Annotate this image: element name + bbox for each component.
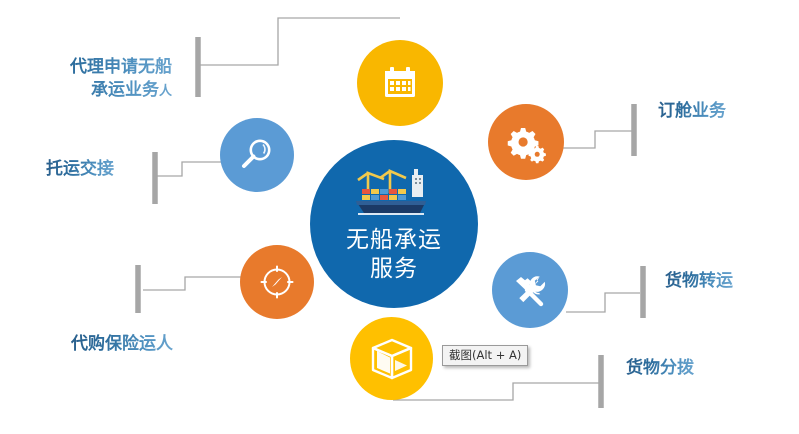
spoke-icon-cargo-transfer[interactable] (492, 252, 568, 328)
spoke-icon-agent-application[interactable] (357, 40, 443, 126)
hub-title-line1: 无船承运 (346, 226, 442, 255)
spoke-icon-booking-business[interactable] (488, 104, 564, 180)
spoke-icon-consign-handover[interactable] (220, 118, 294, 192)
gears-icon (503, 119, 549, 165)
hub-circle[interactable]: 无船承运 服务 (310, 140, 478, 308)
label-booking-business: 订舱业务 (658, 100, 726, 123)
screenshot-tooltip-text: 截图(Alt + A) (449, 348, 521, 362)
compass-icon (256, 261, 298, 303)
label-cargo-transfer: 货物转运 (665, 270, 733, 293)
label-consign-handover: 托运交接 (46, 158, 114, 181)
label-agent-application: 代理申请无船 承运业务人 (20, 56, 172, 102)
label-agent-application-line1: 代理申请无船 (70, 57, 172, 77)
label-cargo-distribution: 货物分拨 (626, 357, 694, 380)
calendar-icon (379, 62, 421, 104)
spoke-icon-cargo-distribution[interactable] (350, 317, 433, 400)
hammer-wrench-icon (508, 268, 552, 312)
label-agent-application-line2: 承运业务 (91, 80, 159, 100)
screenshot-tooltip: 截图(Alt + A) (442, 345, 528, 366)
label-agent-application-suffix: 人 (159, 84, 172, 99)
infographic-canvas: 无船承运 服务 (0, 0, 799, 434)
spoke-icon-insurance-purchase[interactable] (240, 245, 314, 319)
hub-title-line2: 服务 (370, 255, 418, 284)
box-icon (367, 334, 417, 384)
magnifier-icon (237, 135, 277, 175)
cargo-ship-icon (354, 165, 434, 222)
label-insurance-purchase: 代购保险运人 (71, 333, 173, 356)
